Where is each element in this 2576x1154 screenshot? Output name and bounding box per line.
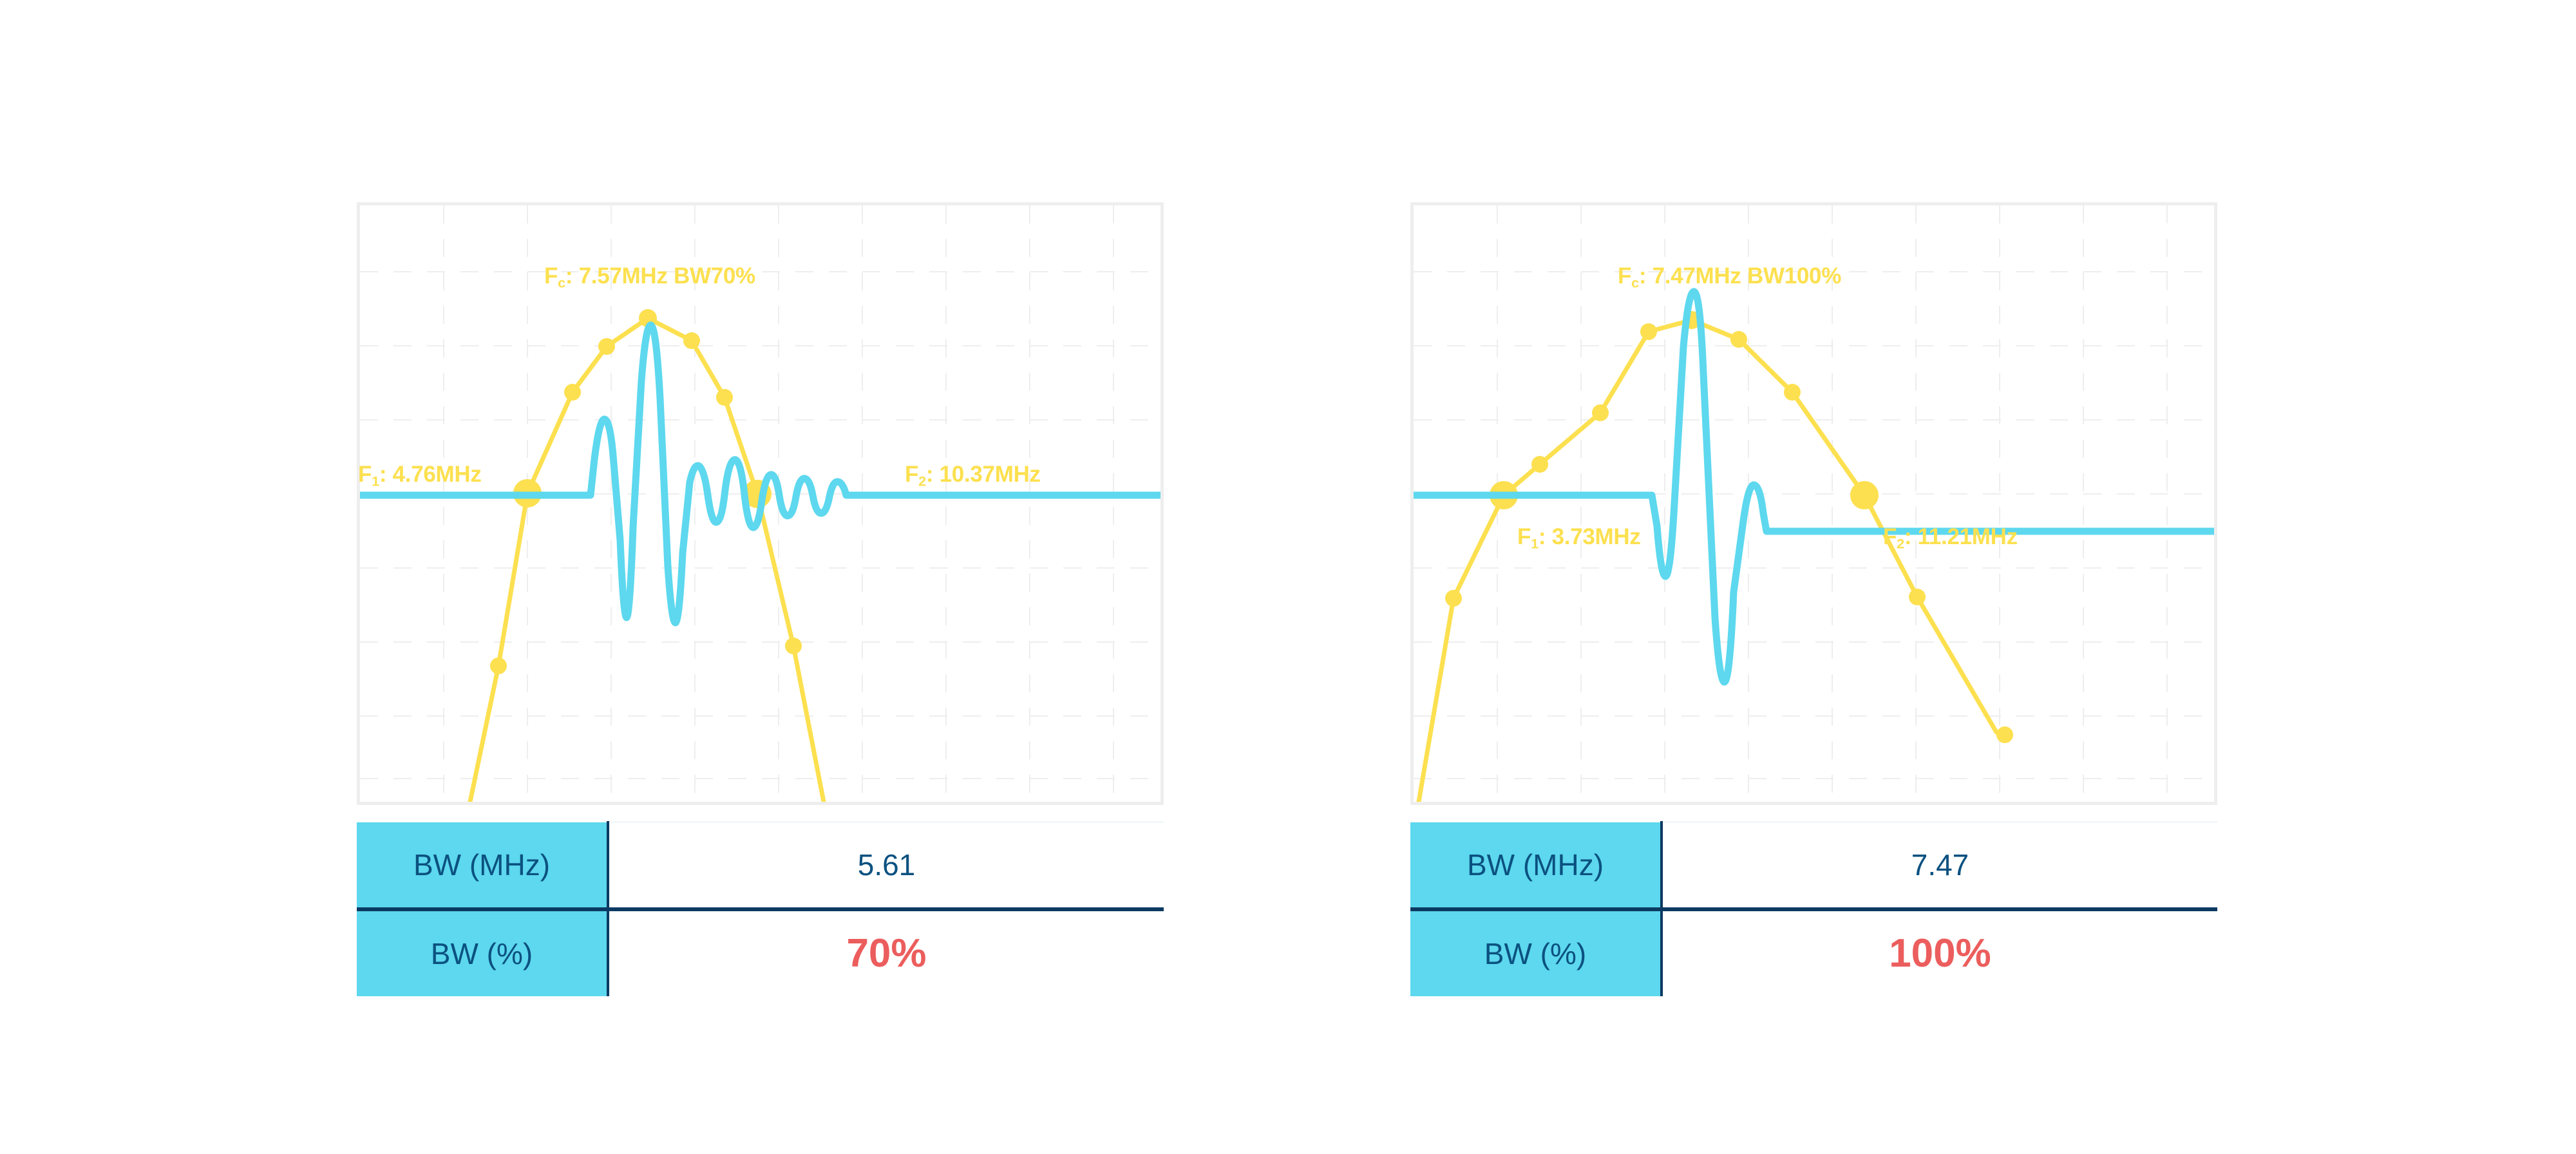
table-value-bw-mhz: 7.47 — [1662, 822, 2217, 909]
pulse-waveform-bw100 — [1414, 292, 2214, 682]
spectrum-point-f2 — [1850, 481, 1879, 509]
curves-bw70 — [360, 205, 1160, 802]
table-row: BW (MHz) 7.47 — [1410, 822, 2217, 909]
panel-bw100: Fc: 7.47MHz BW100% F1: 3.73MHz F2: 11.21… — [1388, 0, 2226, 1154]
table-value-bw-percent: 70% — [608, 909, 1164, 996]
spectrum-point — [1640, 323, 1657, 340]
table-value-bw-percent: 100% — [1662, 909, 2217, 996]
spectrum-curve-bw70 — [470, 318, 824, 802]
spectrum-point — [1445, 590, 1462, 607]
table-header-bw-mhz: BW (MHz) — [357, 822, 608, 909]
spectrum-point — [1592, 404, 1609, 421]
table-value-bw-mhz: 5.61 — [608, 822, 1164, 909]
bw-table-bw100: BW (MHz) 7.47 BW (%) 100% — [1410, 821, 2217, 996]
table-header-bw-mhz: BW (MHz) — [1410, 822, 1662, 909]
table-row: BW (%) 100% — [1410, 909, 2217, 996]
spectrum-point — [1784, 384, 1801, 401]
bw-table-bw70: BW (MHz) 5.61 BW (%) 70% — [357, 821, 1164, 996]
label-fc-bw70: Fc: 7.57MHz BW70% — [544, 265, 755, 290]
plot-frame-bw100 — [1410, 202, 2217, 805]
plot-frame-bw70 — [357, 202, 1164, 805]
table-header-bw-percent: BW (%) — [357, 909, 608, 996]
label-fc-bw100: Fc: 7.47MHz BW100% — [1618, 265, 1841, 290]
label-f1-bw100: F1: 3.73MHz — [1517, 525, 1641, 551]
label-f2-bw70: F2: 10.37MHz — [905, 463, 1041, 488]
table-row: BW (%) 70% — [357, 909, 1164, 996]
plot-area-bw70 — [360, 205, 1160, 802]
spectrum-point — [598, 338, 615, 355]
curves-bw100 — [1414, 205, 2214, 802]
spectrum-point — [716, 389, 733, 406]
spectrum-point — [1909, 589, 1926, 605]
plot-area-bw100 — [1414, 205, 2214, 802]
spectrum-point — [490, 657, 507, 674]
spectrum-point — [683, 332, 700, 349]
table-header-bw-percent: BW (%) — [1410, 909, 1662, 996]
label-f1-bw70: F1: 4.76MHz — [358, 463, 482, 488]
label-f2-bw100: F2: 11.21MHz — [1883, 525, 2018, 551]
spectrum-point — [785, 638, 802, 654]
spectrum-point — [564, 384, 581, 401]
table-row: BW (MHz) 5.61 — [357, 822, 1164, 909]
spectrum-point — [1531, 456, 1548, 473]
spectrum-point — [1730, 331, 1747, 348]
panel-bw70: Fc: 7.57MHz BW70% F1: 4.76MHz F2: 10.37M… — [335, 0, 1172, 1154]
spectrum-point — [1996, 726, 2013, 743]
figure-root: Fc: 7.57MHz BW70% F1: 4.76MHz F2: 10.37M… — [0, 0, 2576, 1154]
